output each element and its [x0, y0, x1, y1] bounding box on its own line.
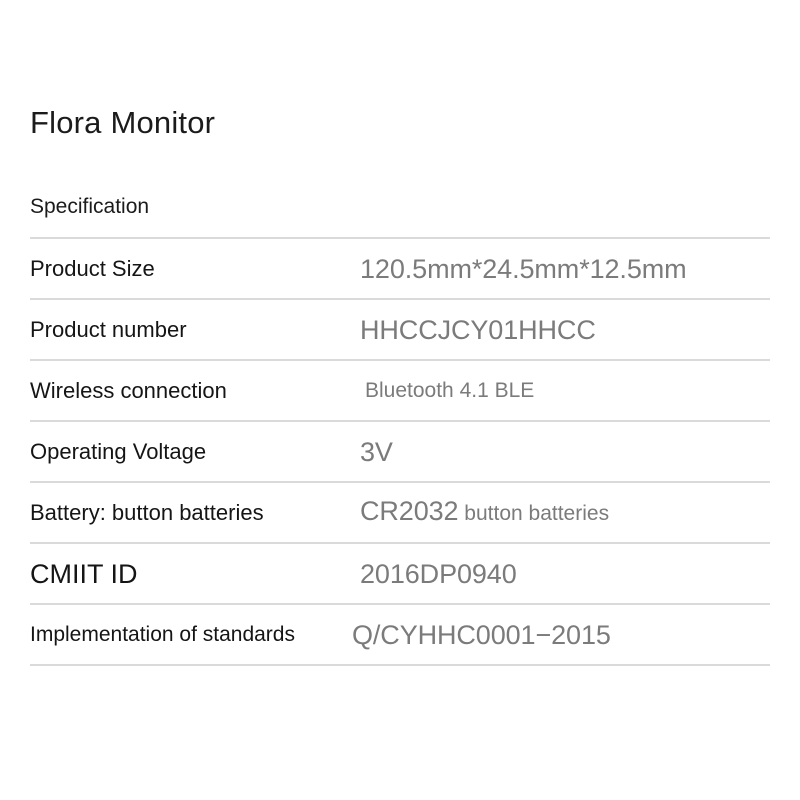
- spec-label-wireless-connection: Wireless connection: [30, 377, 360, 405]
- table-row: Product Size 120.5mm*24.5mm*12.5mm: [30, 239, 770, 300]
- spec-value-operating-voltage: 3V: [360, 436, 770, 468]
- page-title: Flora Monitor: [30, 103, 215, 143]
- spec-label-battery: Battery: button batteries: [30, 499, 360, 527]
- spec-value-implementation-standards: Q/CYHHC0001−2015: [352, 619, 770, 651]
- spec-value-cmiit-id: 2016DP0940: [360, 558, 770, 590]
- spec-value-battery-type: button batteries: [458, 502, 609, 525]
- spec-label-product-number: Product number: [30, 316, 360, 344]
- spec-value-product-number: HHCCJCY01HHCC: [360, 314, 770, 346]
- section-header-specification: Specification: [30, 193, 149, 221]
- spec-value-product-size: 120.5mm*24.5mm*12.5mm: [360, 253, 770, 285]
- spec-label-implementation-standards: Implementation of standards: [30, 621, 352, 649]
- spec-value-battery: CR2032 button batteries: [360, 495, 770, 530]
- spec-label-operating-voltage: Operating Voltage: [30, 438, 360, 466]
- spec-value-battery-model: CR2032: [360, 496, 458, 526]
- table-row: CMIIT ID 2016DP0940: [30, 544, 770, 605]
- table-row: Wireless connection Bluetooth 4.1 BLE: [30, 361, 770, 422]
- spec-value-wireless-connection: Bluetooth 4.1 BLE: [360, 378, 770, 404]
- spec-label-cmiit-id: CMIIT ID: [30, 558, 360, 590]
- table-row: Product number HHCCJCY01HHCC: [30, 300, 770, 361]
- table-row: Battery: button batteries CR2032 button …: [30, 483, 770, 544]
- table-row: Operating Voltage 3V: [30, 422, 770, 483]
- spec-label-product-size: Product Size: [30, 255, 360, 283]
- specification-table: Product Size 120.5mm*24.5mm*12.5mm Produ…: [30, 237, 770, 666]
- specification-page: Flora Monitor Specification Product Size…: [0, 0, 800, 800]
- table-row: Implementation of standards Q/CYHHC0001−…: [30, 605, 770, 666]
